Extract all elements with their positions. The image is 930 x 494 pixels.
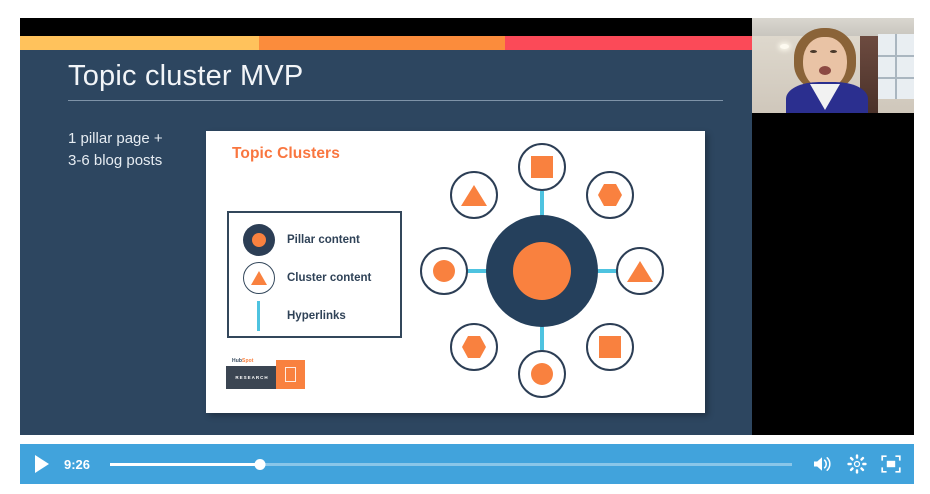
legend-item-pillar-content: Pillar content — [241, 222, 396, 258]
gear-icon — [847, 454, 867, 474]
cluster-node-right — [616, 247, 664, 295]
triangle-icon — [627, 261, 653, 282]
pillar-content-hub — [486, 215, 598, 327]
webcam-presenter — [788, 28, 862, 113]
play-icon — [35, 455, 49, 473]
hyperlink-icon — [241, 298, 279, 334]
fullscreen-icon — [881, 455, 901, 473]
document-icon — [285, 367, 296, 382]
square-icon — [599, 336, 621, 358]
slide-side-note: 1 pillar page + 3-6 blog posts — [68, 128, 163, 172]
pillar-content-icon — [241, 222, 279, 258]
research-sublabel-text: RESEARCH — [235, 375, 268, 380]
square-icon — [531, 156, 553, 178]
video-stage[interactable]: Topic cluster MVP 1 pillar page + 3-6 bl… — [20, 18, 914, 435]
player-control-bar: 9:26 — [20, 444, 914, 484]
legend-item-label: Pillar content — [287, 234, 360, 246]
topic-cluster-diagram — [404, 135, 692, 407]
triangle-icon — [461, 185, 487, 206]
topic-clusters-infographic: Topic Clusters Pillar content Cluster co… — [206, 131, 705, 413]
accent-segment-orange — [259, 36, 505, 50]
cluster-node-top-left — [450, 171, 498, 219]
diagram-legend: Pillar content Cluster content Hyperlink… — [227, 211, 402, 338]
page-title: Topic cluster MVP — [68, 60, 303, 93]
current-time: 9:26 — [64, 457, 98, 472]
cluster-node-bottom-right — [586, 323, 634, 371]
volume-icon — [812, 455, 834, 473]
hubspot-wordmark: HubSpot — [232, 356, 272, 366]
webcam-letterbox — [752, 113, 914, 435]
legend-item-label: Hyperlinks — [287, 310, 346, 322]
progress-handle[interactable] — [255, 459, 266, 470]
cluster-node-top — [518, 143, 566, 191]
hexagon-icon — [462, 335, 486, 359]
cluster-node-bottom-left — [450, 323, 498, 371]
spoke-top — [540, 191, 544, 217]
settings-button[interactable] — [840, 444, 874, 484]
video-player-page: Topic cluster MVP 1 pillar page + 3-6 bl… — [0, 0, 930, 494]
cluster-node-bottom — [518, 350, 566, 398]
legend-item-hyperlinks: Hyperlinks — [241, 298, 396, 334]
infographic-heading: Topic Clusters — [232, 145, 340, 163]
circle-icon — [531, 363, 553, 385]
hubspot-wordmark-text: HubSpot — [232, 358, 254, 364]
cluster-node-left — [420, 247, 468, 295]
hubspot-research-logo: HubSpot RESEARCH — [226, 356, 312, 396]
circle-icon — [433, 260, 455, 282]
research-sublabel: RESEARCH — [226, 366, 278, 389]
hexagon-icon — [598, 183, 622, 207]
legend-item-cluster-content: Cluster content — [241, 260, 396, 296]
volume-button[interactable] — [806, 444, 840, 484]
progress-fill — [110, 463, 260, 466]
fullscreen-button[interactable] — [874, 444, 908, 484]
cluster-content-icon — [241, 260, 279, 296]
presenter-webcam-feed[interactable] — [752, 18, 914, 113]
title-divider — [68, 100, 723, 101]
cluster-node-top-right — [586, 171, 634, 219]
progress-slider[interactable] — [110, 454, 792, 474]
legend-item-label: Cluster content — [287, 272, 371, 284]
play-button[interactable] — [20, 444, 60, 484]
webcam-window — [878, 34, 914, 99]
spoke-bottom — [540, 324, 544, 350]
accent-segment-amber — [20, 36, 259, 50]
logo-badge — [276, 360, 305, 389]
